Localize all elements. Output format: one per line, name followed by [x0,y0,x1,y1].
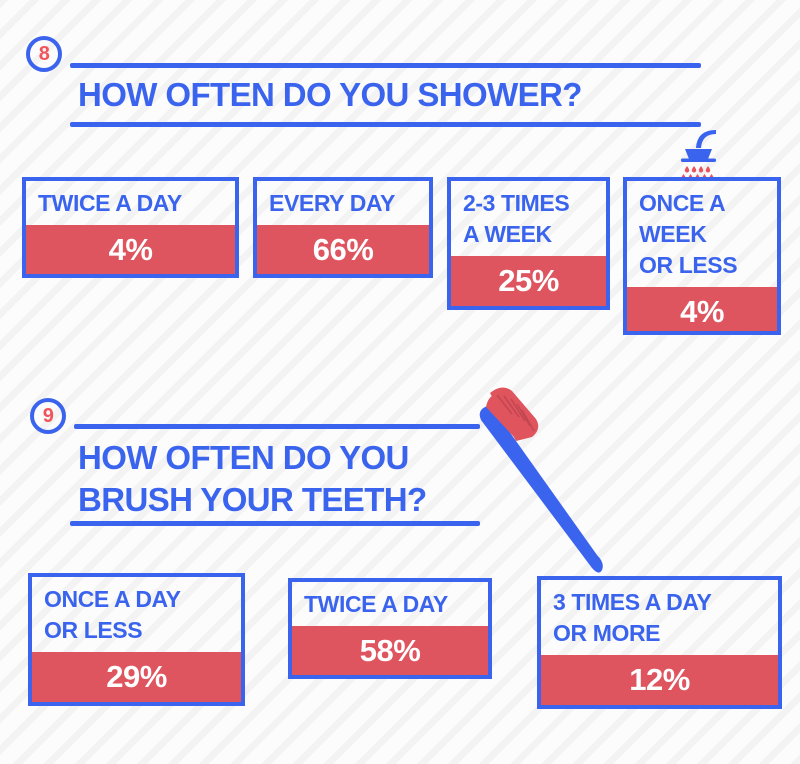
stat-box[interactable]: 3 times a day or more 12% [537,576,782,709]
stat-box[interactable]: Once a day or less 29% [28,573,245,706]
section-8-rule-top [70,63,701,68]
section-badge-number: 9 [43,406,54,426]
stat-value: 29% [32,652,241,702]
stat-value: 12% [541,655,778,705]
stat-label: Once a week or less [627,181,777,287]
stat-box[interactable]: 2-3 times a week 25% [447,177,610,310]
shower-head-icon [672,129,738,181]
stat-label: 2-3 times a week [451,181,606,256]
stat-value: 66% [257,225,429,275]
stat-value: 58% [292,626,488,676]
stat-label: Twice a day [292,582,488,626]
stat-value: 4% [26,225,235,275]
stat-label: Once a day or less [32,577,241,652]
stat-value: 4% [627,287,777,335]
stat-box[interactable]: Twice a day 58% [288,578,492,679]
section-8-rule-bottom [70,122,701,127]
stat-label: Every day [257,181,429,225]
section-badge-8: 8 [26,36,62,72]
stat-label: Twice a day [26,181,235,225]
stat-value: 25% [451,256,606,306]
stat-box[interactable]: Twice a day 4% [22,177,239,278]
stat-box[interactable]: Once a week or less 4% [623,177,781,335]
section-9-rule-top [74,424,480,429]
stat-label: 3 times a day or more [541,580,778,655]
section-badge-number: 8 [39,44,50,64]
section-badge-9: 9 [30,398,66,434]
infographic-canvas: 8 How often do you shower? Twice a day 4… [0,0,800,764]
section-9-heading: How often do you brush your teeth? [78,437,558,521]
stat-box[interactable]: Every day 66% [253,177,433,278]
section-9-rule-bottom [70,521,480,526]
section-8-heading: How often do you shower? [78,74,778,116]
